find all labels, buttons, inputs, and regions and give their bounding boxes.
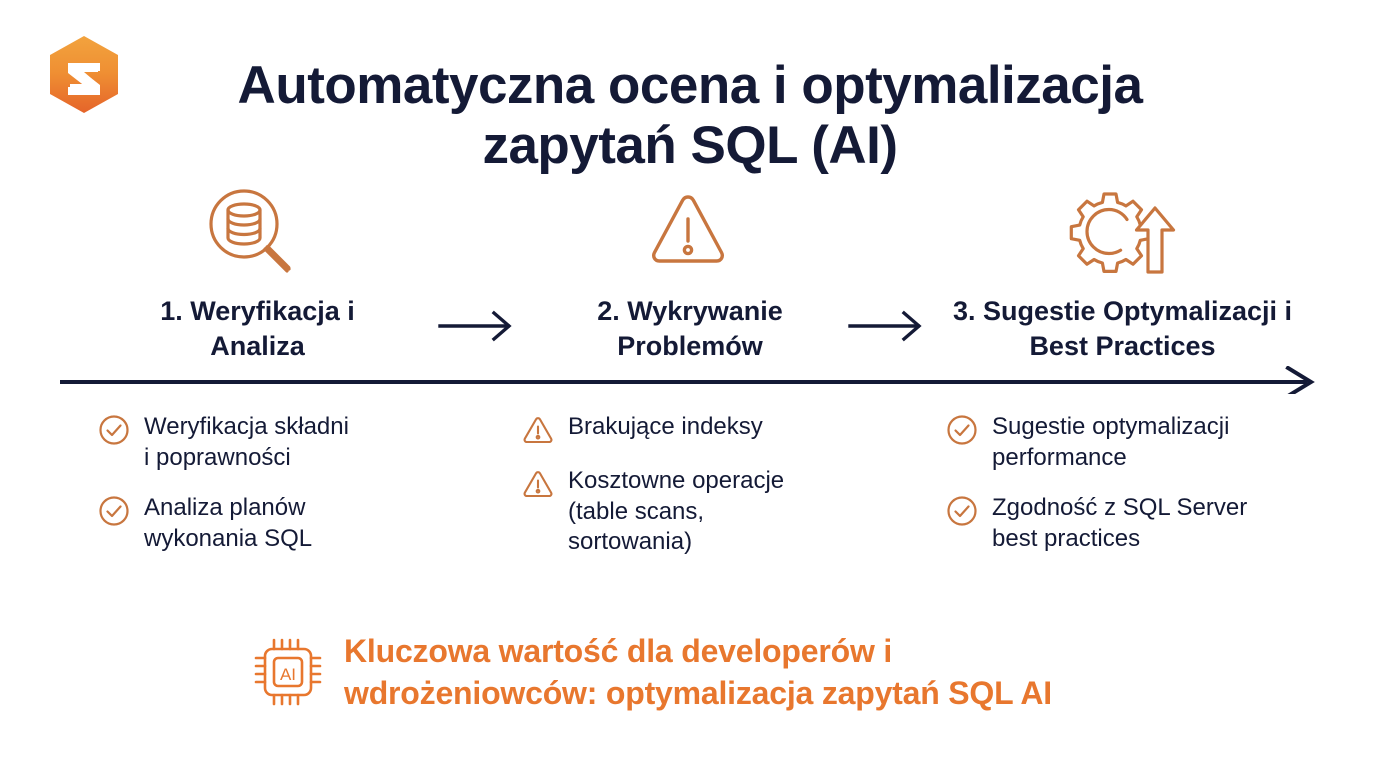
page-title: Automatyczna ocena i optymalizacja zapyt… xyxy=(190,56,1190,177)
bullet-column-3: Sugestie optymalizacji performance Zgodn… xyxy=(946,412,1316,575)
bullet-text: Sugestie optymalizacji performance xyxy=(992,412,1229,473)
list-item: Sugestie optymalizacji performance xyxy=(946,412,1316,473)
timeline-arrow-right-icon xyxy=(60,366,1315,394)
bullet-column-2: Brakujące indeksy Kosztowne operacje (ta… xyxy=(522,412,852,578)
bullet-text: Analiza planów wykonania SQL xyxy=(144,493,312,554)
arrow-right-icon xyxy=(438,308,516,344)
bullet-text: Brakujące indeksy xyxy=(568,412,763,443)
list-item: Weryfikacja składni i poprawności xyxy=(98,412,428,473)
hexagon-s-logo xyxy=(46,34,122,134)
footer-callout: AI Kluczowa wartość dla developerów i wd… xyxy=(252,630,1212,714)
check-circle-icon xyxy=(946,414,978,446)
list-item: Analiza planów wykonania SQL xyxy=(98,493,428,554)
stage-heading-1: 1. Weryfikacja i Analiza xyxy=(110,294,405,364)
list-item: Brakujące indeksy xyxy=(522,412,852,446)
check-circle-icon xyxy=(98,414,130,446)
bullet-text: Kosztowne operacje (table scans, sortowa… xyxy=(568,466,784,558)
list-item: Kosztowne operacje (table scans, sortowa… xyxy=(522,466,852,558)
ai-chip-label: AI xyxy=(280,665,296,684)
ai-chip-icon: AI xyxy=(252,632,324,712)
arrow-right-icon xyxy=(848,308,926,344)
bullet-text: Zgodność z SQL Server best practices xyxy=(992,493,1247,554)
slide-root: Automatyczna ocena i optymalizacja zapyt… xyxy=(0,0,1376,768)
gear-arrow-up-icon xyxy=(1060,186,1180,274)
database-magnifier-icon xyxy=(196,186,316,274)
check-circle-icon xyxy=(946,495,978,527)
stage-heading-2: 2. Wykrywanie Problemów xyxy=(545,294,835,364)
warning-triangle-icon xyxy=(522,414,554,446)
footer-text: Kluczowa wartość dla developerów i wdroż… xyxy=(344,630,1052,714)
stage-heading-3: 3. Sugestie Optymalizacji i Best Practic… xyxy=(925,294,1320,364)
warning-triangle-icon xyxy=(628,186,748,274)
bullet-column-1: Weryfikacja składni i poprawności Analiz… xyxy=(98,412,428,575)
check-circle-icon xyxy=(98,495,130,527)
bullet-text: Weryfikacja składni i poprawności xyxy=(144,412,349,473)
warning-triangle-icon xyxy=(522,468,554,500)
list-item: Zgodność z SQL Server best practices xyxy=(946,493,1316,554)
